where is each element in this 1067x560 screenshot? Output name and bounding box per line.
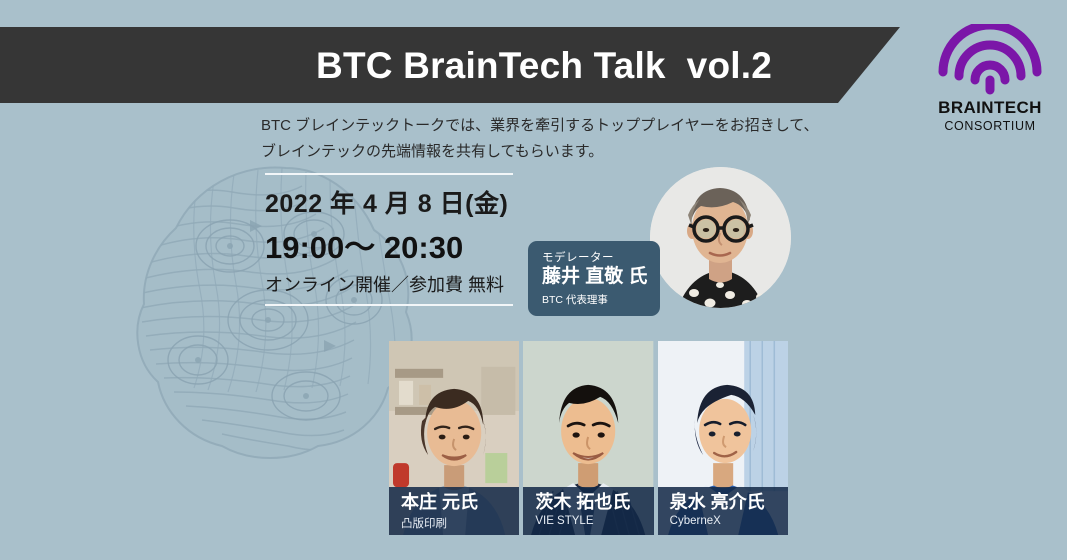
event-banner: BTC BrainTech Talk vol.2 BRAINTECH CONSO…: [0, 0, 1067, 560]
logo-subtitle: CONSORTIUM: [928, 119, 1052, 133]
moderator-card: モデレーター 藤井 直敬 氏 BTC 代表理事: [528, 241, 660, 316]
event-description: BTC ブレインテックトークでは、業界を牽引するトッププレイヤーをお招きして、 …: [261, 113, 821, 166]
event-note: オンライン開催／参加費 無料: [265, 271, 513, 297]
moderator-name: 藤井 直敬 氏: [542, 266, 648, 289]
title-banner: BTC BrainTech Talk vol.2: [0, 27, 900, 103]
speaker-card: 泉水 亮介氏 CyberneX: [658, 341, 788, 535]
divider-bottom: [265, 304, 513, 306]
speaker-label: 泉水 亮介氏 CyberneX: [658, 487, 788, 535]
speaker-card: 茨木 拓也氏 VIE STYLE: [523, 341, 653, 535]
speaker-org: CyberneX: [670, 515, 788, 527]
logo-name: BRAINTECH: [928, 98, 1052, 118]
braintech-consortium-logo: BRAINTECH CONSORTIUM: [928, 24, 1052, 133]
description-line-1: BTC ブレインテックトークでは、業界を牽引するトッププレイヤーをお招きして、: [261, 113, 821, 139]
moderator-role: モデレーター: [542, 249, 648, 265]
wifi-arcs-icon: [935, 24, 1045, 96]
event-time: 19:00〜 20:30: [265, 222, 513, 267]
speaker-name: 泉水 亮介氏: [670, 492, 788, 513]
divider-top: [265, 173, 513, 175]
event-date: 2022 年 4 月 8 日(金): [265, 184, 513, 220]
speaker-name: 本庄 元氏: [401, 492, 519, 513]
speaker-name: 茨木 拓也氏: [535, 492, 653, 513]
page-title: BTC BrainTech Talk vol.2: [316, 47, 772, 84]
description-line-2: ブレインテックの先端情報を共有してもらいます。: [261, 139, 821, 165]
moderator-avatar: [650, 167, 791, 308]
speaker-card: 本庄 元氏 凸版印刷: [389, 341, 519, 535]
speaker-label: 茨木 拓也氏 VIE STYLE: [523, 487, 653, 535]
speaker-org: VIE STYLE: [535, 515, 653, 527]
speaker-org: 凸版印刷: [401, 515, 519, 531]
speaker-label: 本庄 元氏 凸版印刷: [389, 487, 519, 535]
event-details: 2022 年 4 月 8 日(金) 19:00〜 20:30 オンライン開催／参…: [265, 173, 513, 306]
moderator-title: BTC 代表理事: [542, 292, 648, 307]
speaker-list: 本庄 元氏 凸版印刷: [389, 341, 788, 535]
